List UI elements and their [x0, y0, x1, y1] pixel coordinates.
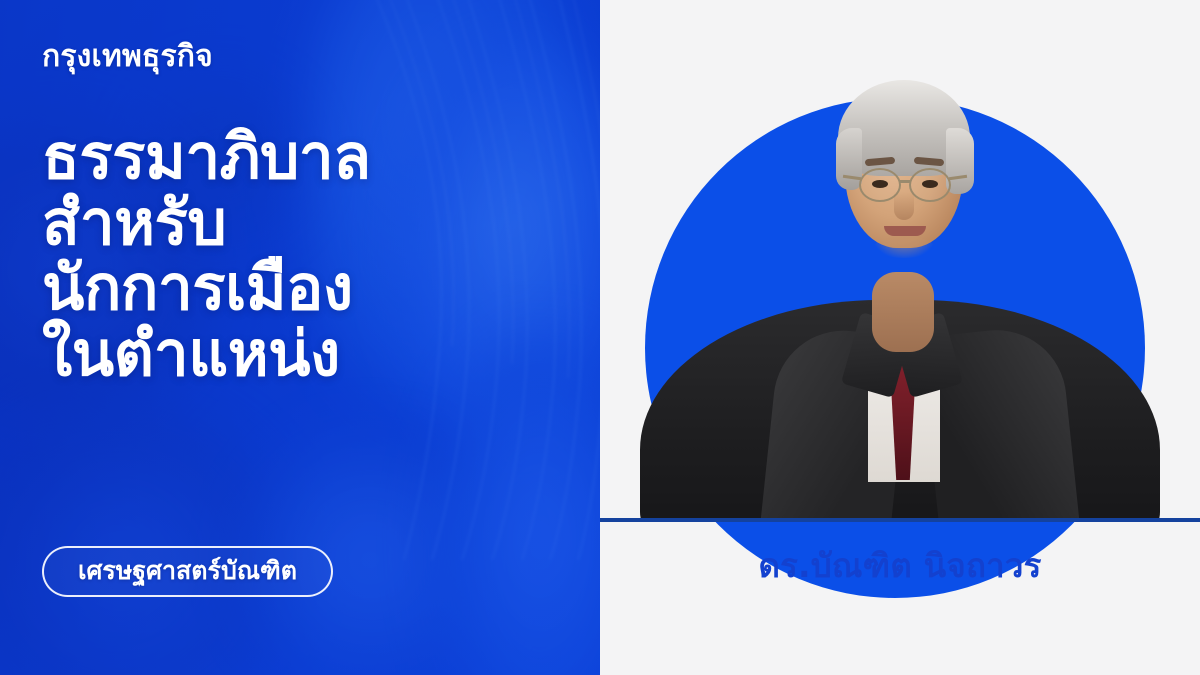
mouth — [884, 226, 926, 236]
nose — [894, 192, 914, 220]
category-badge[interactable]: เศรษฐศาสตร์บัณฑิต — [42, 546, 333, 598]
chin — [874, 236, 934, 258]
headline-line-3: นักการเมือง — [42, 255, 570, 321]
headline: ธรรมาภิบาล สำหรับ นักการเมือง ในตำแหน่ง — [42, 124, 570, 387]
hair-side-left — [836, 128, 862, 190]
badge-container: เศรษฐศาสตร์บัณฑิต — [42, 546, 570, 598]
speaker-name: ดร.บัณฑิต นิจถาวร — [600, 546, 1200, 586]
eyeglass-bridge — [899, 180, 911, 183]
eye-right — [922, 180, 938, 188]
eye-left — [872, 180, 888, 188]
speaker-portrait — [600, 0, 1200, 518]
headline-line-4: ในตำแหน่ง — [42, 321, 570, 387]
horizontal-divider — [600, 518, 1200, 522]
headline-line-1: ธรรมาภิบาล — [42, 124, 570, 190]
right-portrait-panel: ดร.บัณฑิต นิจถาวร — [600, 0, 1200, 675]
headline-line-2: สำหรับ — [42, 190, 570, 256]
brand-logo: กรุงเทพธุรกิจ — [42, 42, 570, 72]
left-blue-panel: กรุงเทพธุรกิจ ธรรมาภิบาล สำหรับ นักการเม… — [0, 0, 600, 675]
neck — [872, 272, 934, 352]
left-panel-content: กรุงเทพธุรกิจ ธรรมาภิบาล สำหรับ นักการเม… — [0, 0, 600, 675]
article-card: กรุงเทพธุรกิจ ธรรมาภิบาล สำหรับ นักการเม… — [0, 0, 1200, 675]
